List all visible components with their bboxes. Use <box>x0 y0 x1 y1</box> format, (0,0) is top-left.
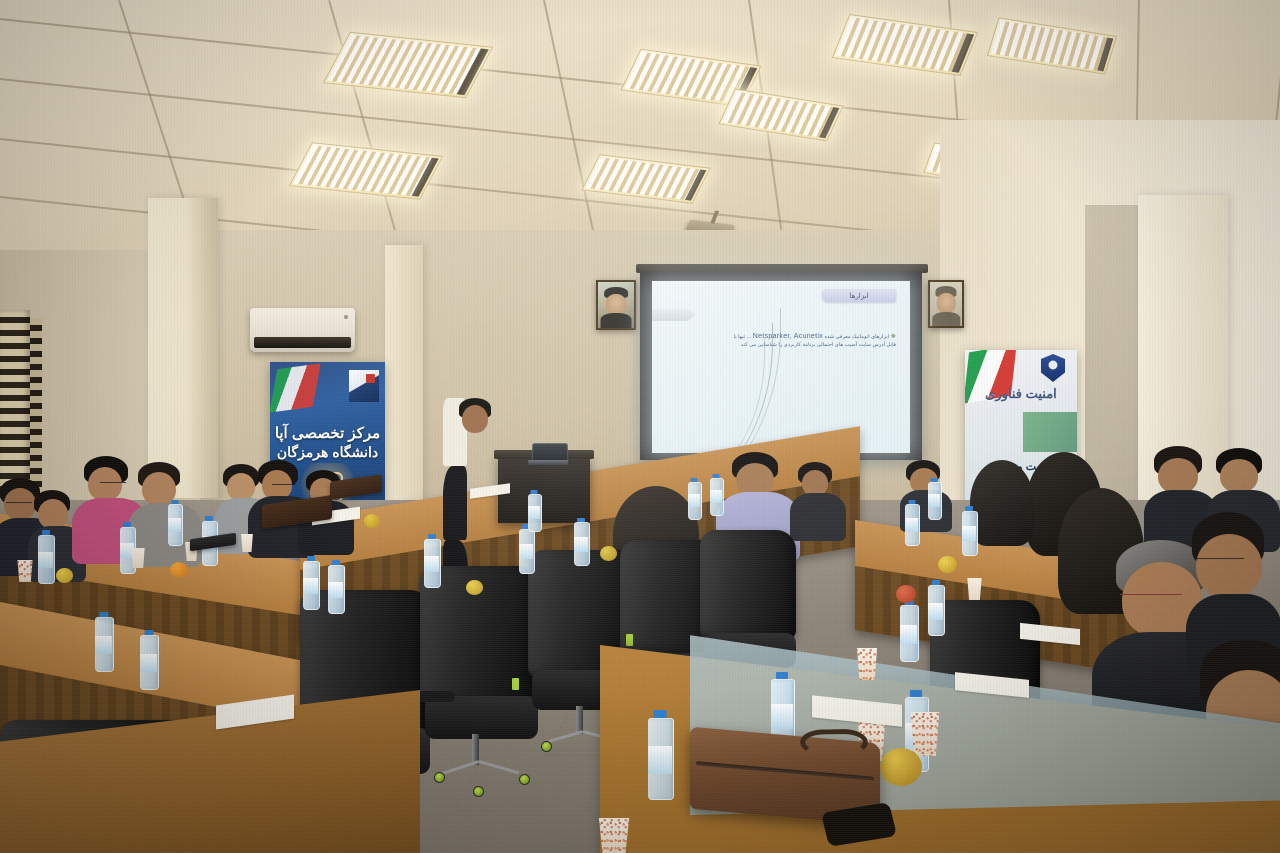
slide-tab-decoration <box>652 309 696 321</box>
presenter-head <box>462 405 488 433</box>
water-bottle[interactable] <box>168 500 181 544</box>
presenter <box>443 398 513 518</box>
water-bottle[interactable] <box>574 518 588 564</box>
water-bottle[interactable] <box>328 560 343 612</box>
water-bottle[interactable] <box>962 506 976 554</box>
window-blinds <box>30 318 42 488</box>
water-bottle[interactable] <box>528 490 540 530</box>
water-bottle[interactable] <box>900 600 917 660</box>
fruit-apple <box>364 514 380 528</box>
presenter-jacket <box>443 466 467 540</box>
ac-led-icon <box>344 315 348 319</box>
slide-line1-prefix: ابزارهای اتوماتیک معرفی شده <box>824 334 889 340</box>
structural-column <box>148 198 218 498</box>
slide-title-text: ابزارها <box>850 292 869 300</box>
water-bottle[interactable] <box>928 580 943 634</box>
slide-body: ❖ ابزارهای اتوماتیک معرفی شده Netsparker… <box>668 333 896 349</box>
air-conditioner-icon <box>250 308 355 352</box>
audience-member <box>790 462 848 534</box>
fruit-apple <box>600 546 617 561</box>
ac-vent <box>254 337 351 348</box>
audience-member <box>970 460 1034 548</box>
structural-column <box>385 245 423 510</box>
banner-graphic <box>1023 412 1077 452</box>
shield-crest-icon <box>1041 354 1065 382</box>
laptop-icon <box>528 443 568 465</box>
water-bottle[interactable] <box>303 556 318 608</box>
banner-left-line1: مرکز تخصصی آپا <box>270 424 385 442</box>
water-bottle[interactable] <box>928 478 940 518</box>
water-bottle[interactable] <box>648 710 672 798</box>
fruit-apple <box>880 748 922 786</box>
water-bottle[interactable] <box>95 612 112 670</box>
slide-bullet-icon: ❖ <box>891 334 896 340</box>
briefcase-handle[interactable] <box>799 729 869 756</box>
framed-portrait <box>928 280 964 328</box>
fruit-apple <box>56 568 73 583</box>
water-bottle[interactable] <box>38 530 53 582</box>
iran-flag-icon <box>270 363 321 412</box>
framed-portrait <box>596 280 636 330</box>
water-bottle[interactable] <box>905 500 918 544</box>
window-blinds <box>0 310 30 495</box>
water-bottle[interactable] <box>120 522 134 572</box>
water-bottle[interactable] <box>710 474 722 514</box>
water-bottle[interactable] <box>688 478 700 518</box>
presentation-slide: ابزارها ❖ ابزارهای اتوماتیک معرفی شده Ne… <box>652 281 910 453</box>
fruit-apple <box>896 585 916 603</box>
fruit-orange <box>170 562 188 577</box>
slide-line2: قابل آدرس سایت آسیب های احتمالی برنامه ک… <box>668 341 896 349</box>
fruit-apple <box>938 556 957 573</box>
fruit-apple <box>466 580 483 595</box>
water-bottle[interactable] <box>140 630 157 688</box>
slide-line1-suffix: ... تنها با <box>734 334 752 340</box>
briefcase-zipper <box>696 762 874 782</box>
slide-tool-names: Netsparker, Acunetix <box>753 333 823 340</box>
briefcase[interactable] <box>690 727 880 826</box>
conference-room-photo: ابزارها ❖ ابزارهای اتوماتیک معرفی شده Ne… <box>0 0 1280 853</box>
slide-title-banner: ابزارها <box>822 289 896 302</box>
banner-graphic <box>349 370 379 402</box>
office-chair[interactable] <box>420 566 538 782</box>
banner-right-line1: امنیت فناوری <box>965 386 1077 402</box>
water-bottle[interactable] <box>424 534 439 586</box>
banner-left-line2: دانشگاه هرمزگان <box>270 444 385 461</box>
